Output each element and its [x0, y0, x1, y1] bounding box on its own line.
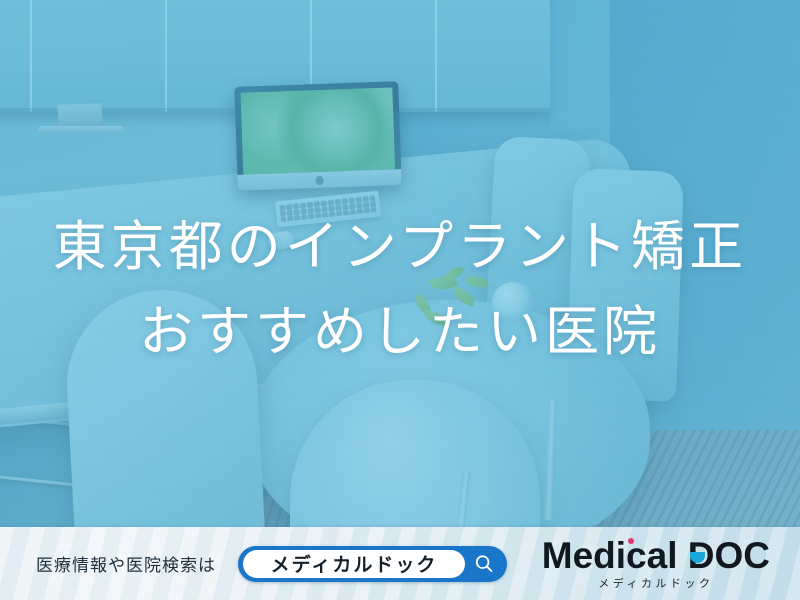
search-button[interactable]	[465, 550, 503, 578]
search-bar[interactable]: メディカルドック	[238, 546, 507, 582]
banner-root: 東京都のインプラント矯正 おすすめしたい医院 医療情報や医院検索は メディカルド…	[0, 0, 800, 600]
brand-wordmark: Medical DOC	[542, 537, 770, 574]
footer-tagline: 医療情報や医院検索は	[36, 551, 216, 576]
brand-reading: メディカルドック	[542, 579, 770, 590]
brand-i-dot-icon	[628, 538, 634, 544]
background-photo	[0, 0, 800, 600]
cyan-tint-overlay	[0, 0, 800, 600]
search-icon	[473, 553, 495, 575]
brand-logo: Medical DOC メディカルドック	[542, 537, 770, 590]
brand-name-text: Medical DOC	[542, 535, 770, 576]
search-input[interactable]: メディカルドック	[243, 550, 465, 578]
footer-bar: 医療情報や医院検索は メディカルドック Medical DOC メディカルドック	[0, 527, 800, 600]
